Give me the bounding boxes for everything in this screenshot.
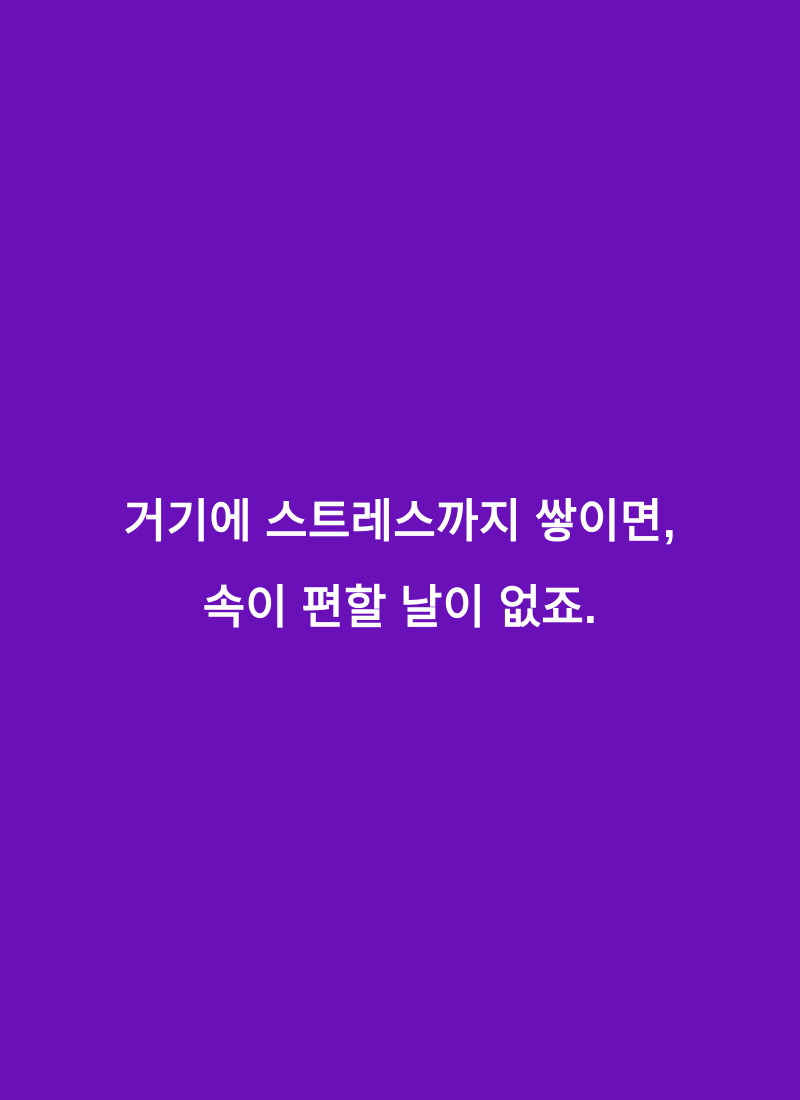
quote-text-block: 거기에 스트레스까지 쌓이면, 속이 편할 날이 없죠. [0, 478, 800, 650]
quote-line-2: 속이 편할 날이 없죠. [40, 564, 760, 650]
quote-line-1: 거기에 스트레스까지 쌓이면, [40, 478, 760, 564]
quote-card: 거기에 스트레스까지 쌓이면, 속이 편할 날이 없죠. [0, 0, 800, 1100]
